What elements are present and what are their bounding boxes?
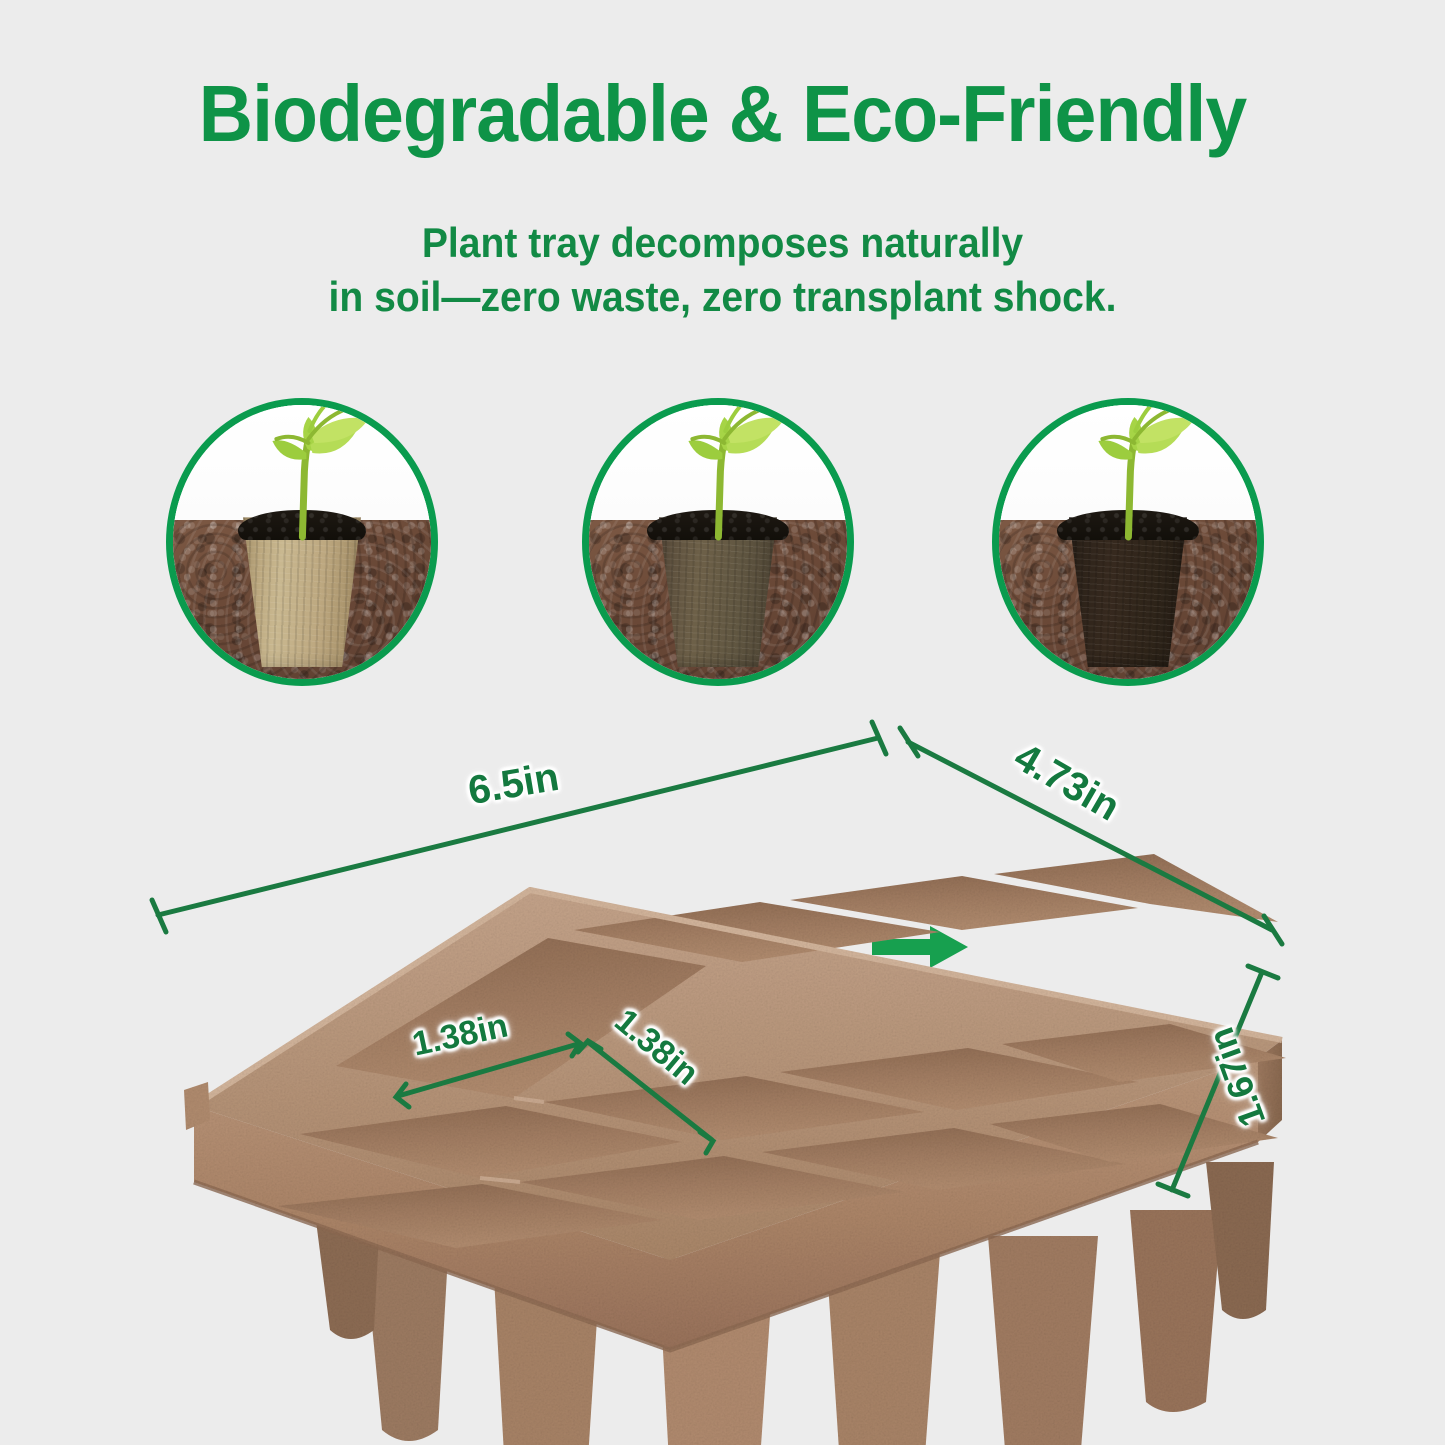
- seedling-icon: [1054, 398, 1214, 537]
- subtitle-line-2: in soil—zero waste, zero transplant shoc…: [51, 270, 1395, 324]
- seedling-icon: [228, 398, 388, 537]
- infographic-page: Biodegradable & Eco-Friendly Plant tray …: [0, 0, 1445, 1445]
- page-subtitle: Plant tray decomposes naturally in soil—…: [51, 216, 1395, 324]
- subtitle-line-1: Plant tray decomposes naturally: [51, 216, 1395, 270]
- soil-cross-section-scene-3: [999, 405, 1257, 679]
- soil-cross-section-scene-1: [173, 405, 431, 679]
- page-title: Biodegradable & Eco-Friendly: [43, 72, 1401, 156]
- stage-circle-peat-pot-intact: [166, 398, 438, 686]
- stage-circle-peat-pot-decomposed: [992, 398, 1264, 686]
- seedling-icon: [644, 398, 804, 537]
- soil-cross-section-scene-2: [589, 405, 847, 679]
- seed-starter-tray-image: [150, 790, 1290, 1440]
- decomposition-stage-strip: [0, 398, 1445, 690]
- stage-circle-peat-pot-decomposing: [582, 398, 854, 686]
